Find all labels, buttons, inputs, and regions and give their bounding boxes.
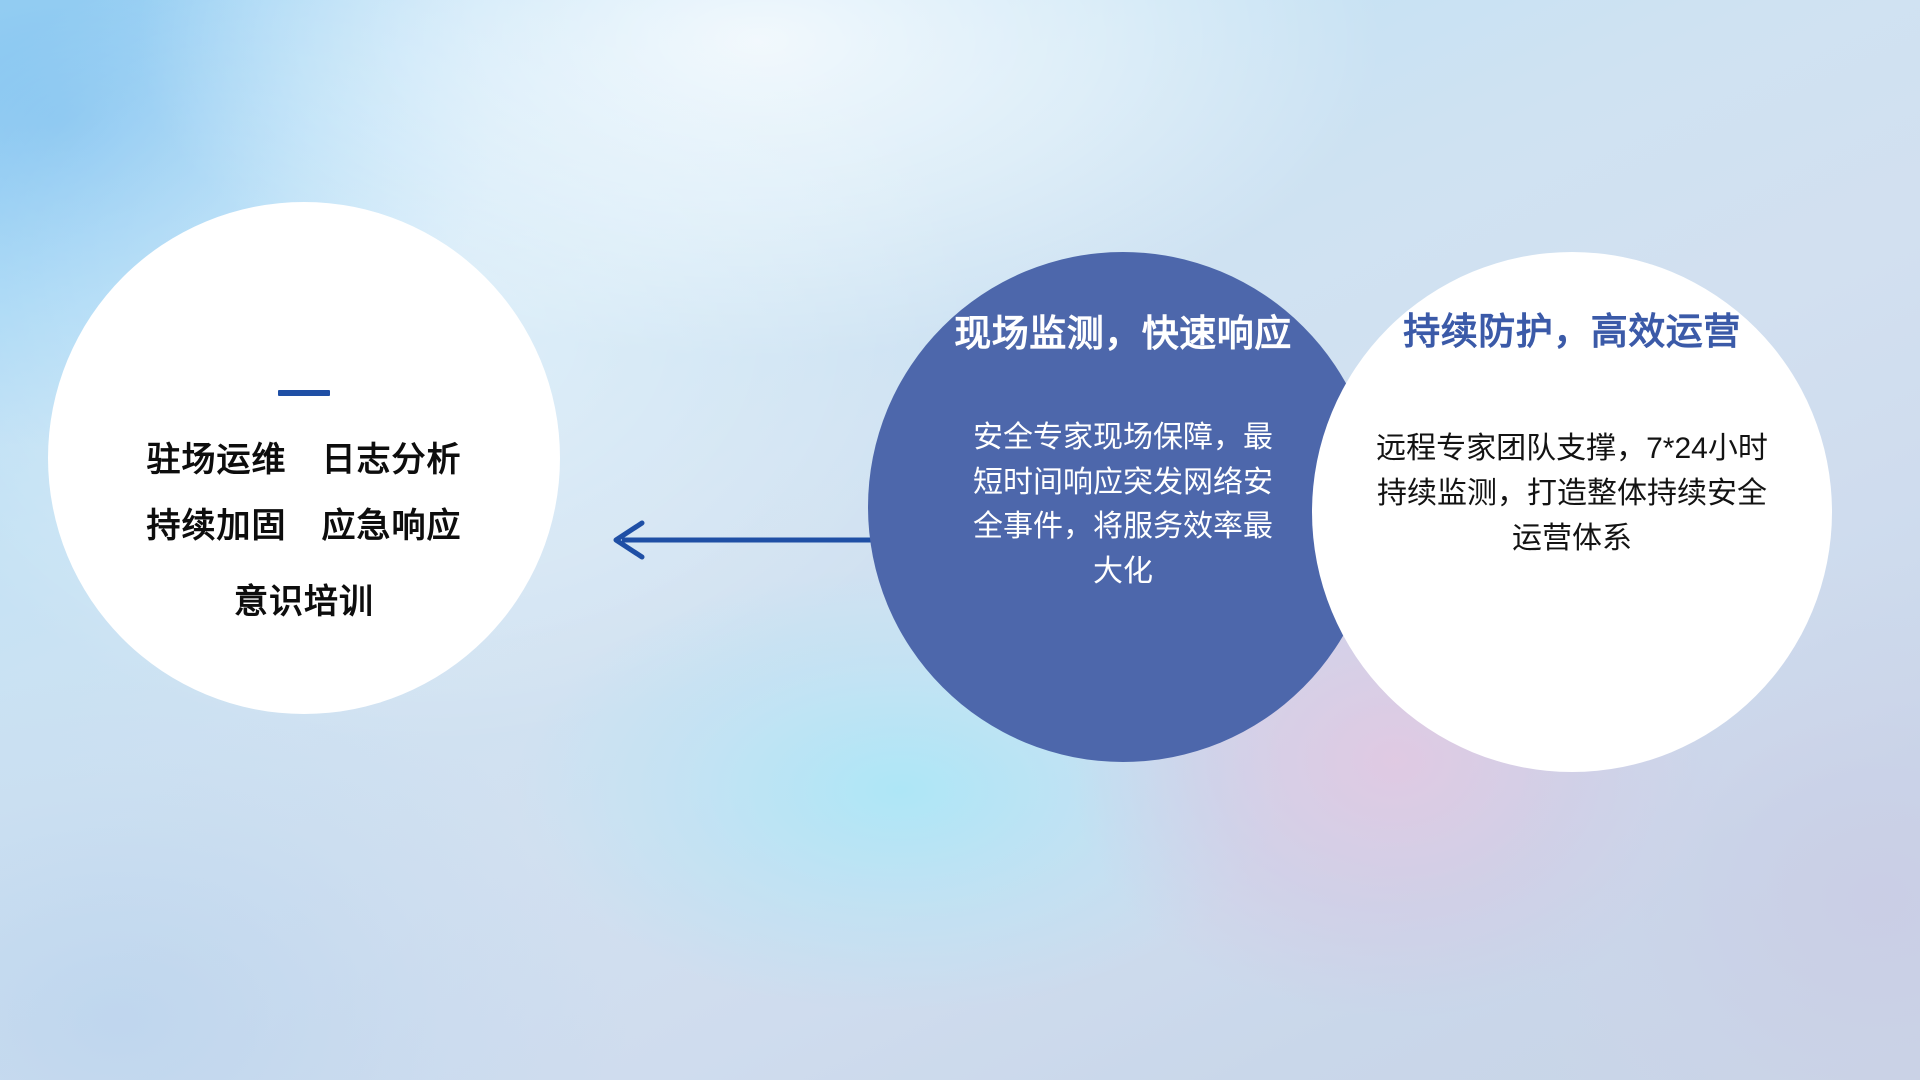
onsite-monitoring-body: 安全专家现场保障，最短时间响应突发网络安全事件，将服务效率最大化: [967, 416, 1279, 594]
left-circle-line-2: 持续加固 应急响应: [147, 509, 462, 543]
left-circle-line-1: 驻场运维 日志分析: [147, 443, 462, 477]
continuous-protection-body: 远程专家团队支撑，7*24小时持续监测，打造整体持续安全运营体系: [1372, 426, 1772, 561]
continuous-protection-title: 持续防护，高效运营: [1403, 310, 1741, 354]
onsite-monitoring-title: 现场监测，快速响应: [954, 312, 1292, 356]
onsite-monitoring-circle[interactable]: 现场监测，快速响应 安全专家现场保障，最短时间响应突发网络安全事件，将服务效率最…: [868, 252, 1378, 762]
accent-dash-icon: [278, 390, 330, 396]
continuous-protection-circle[interactable]: 持续防护，高效运营 远程专家团队支撑，7*24小时持续监测，打造整体持续安全运营…: [1312, 252, 1832, 772]
flow-arrow-left-icon: [596, 505, 896, 575]
left-capability-circle[interactable]: 驻场运维 日志分析 持续加固 应急响应 意识培训: [48, 202, 560, 714]
left-circle-line-3: 意识培训: [234, 585, 374, 619]
left-circle-content: 驻场运维 日志分析 持续加固 应急响应 意识培训: [48, 202, 560, 714]
right-circle-content: 持续防护，高效运营 远程专家团队支撑，7*24小时持续监测，打造整体持续安全运营…: [1312, 252, 1832, 772]
slide-canvas: 驻场运维 日志分析 持续加固 应急响应 意识培训 现场监测，快速响应 安全专家现…: [0, 0, 1920, 1080]
blue-circle-content: 现场监测，快速响应 安全专家现场保障，最短时间响应突发网络安全事件，将服务效率最…: [868, 252, 1378, 762]
